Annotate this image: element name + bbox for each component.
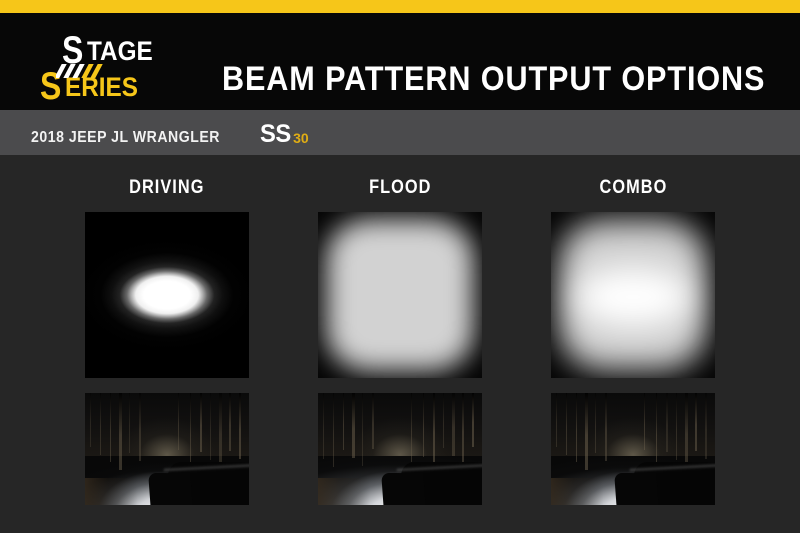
flood-beam-pattern (318, 212, 482, 378)
model-number: 30 (293, 131, 309, 145)
logo-stage-initial: S (62, 36, 83, 66)
subtitle-band: 2018 JEEP JL WRANGLER SS 30 (0, 110, 800, 155)
driving-road-photo (85, 393, 249, 505)
beam-pattern-infographic: S TAGE S ERIES BEAM PATTERN OUTPUT OPTIO… (0, 0, 800, 533)
logo-word-stage: S TAGE (40, 33, 190, 69)
logo-word-series: S ERIES (40, 69, 190, 105)
logo-series-rest: ERIES (65, 74, 138, 101)
column-label-flood: FLOOD (318, 177, 482, 199)
subtitle-content: 2018 JEEP JL WRANGLER SS 30 (31, 123, 309, 147)
column-label-driving: DRIVING (85, 177, 249, 199)
combo-beam-projection (551, 212, 715, 378)
flood-road-photo (318, 393, 482, 505)
page-title: BEAM PATTERN OUTPUT OPTIONS (222, 62, 765, 96)
stage-series-logo: S TAGE S ERIES (40, 33, 190, 105)
product-model: SS 30 (260, 123, 309, 145)
column-label-combo: COMBO (551, 177, 715, 199)
vehicle-name: 2018 JEEP JL WRANGLER (31, 129, 220, 147)
flood-beam-projection (318, 212, 482, 378)
model-prefix: SS (260, 123, 291, 145)
driving-beam-pattern (85, 212, 249, 378)
logo-stage-rest: TAGE (87, 38, 153, 65)
combo-road-photo (551, 393, 715, 505)
header-band: S TAGE S ERIES BEAM PATTERN OUTPUT OPTIO… (0, 13, 800, 110)
logo-series-initial: S (40, 72, 61, 102)
combo-beam-pattern (551, 212, 715, 378)
top-accent-bar (0, 0, 800, 13)
driving-beam-projection (85, 212, 249, 378)
